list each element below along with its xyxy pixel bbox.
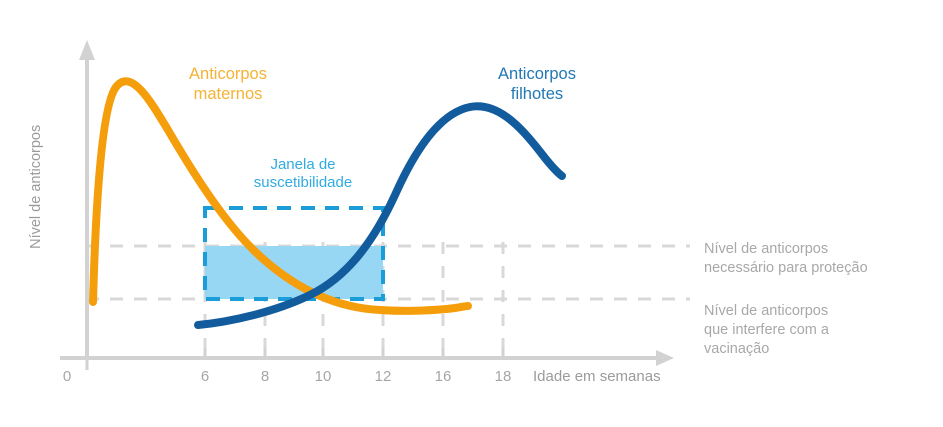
note-nivel-interferencia: Nível de anticorpos que interfere com a … (704, 302, 829, 359)
x-axis (60, 350, 674, 366)
label-anticorpos-maternos: Anticorpos maternos (148, 64, 308, 104)
chart-container: Nível de anticorpos Idade em semanas 0 6… (0, 0, 943, 427)
note-nivel-protecao: Nível de anticorpos necessário para prot… (704, 240, 868, 278)
x-tick-label-16: 16 (423, 368, 463, 385)
x-tick-label-10: 10 (303, 368, 343, 385)
curve-maternal-antibodies (93, 81, 468, 311)
label-janela-suscetibilidade: Janela de suscetibilidade (228, 156, 378, 193)
x-tick-label-12: 12 (363, 368, 403, 385)
label-anticorpos-filhotes: Anticorpos filhotes (462, 64, 612, 104)
x-tick-label-0: 0 (47, 368, 87, 385)
y-axis-title: Nível de anticorpos (28, 82, 46, 292)
x-tick-label-6: 6 (185, 368, 225, 385)
x-tick-label-18: 18 (483, 368, 523, 385)
x-tick-label-8: 8 (245, 368, 285, 385)
y-axis (79, 40, 95, 360)
x-axis-title: Idade em semanas (533, 368, 661, 386)
